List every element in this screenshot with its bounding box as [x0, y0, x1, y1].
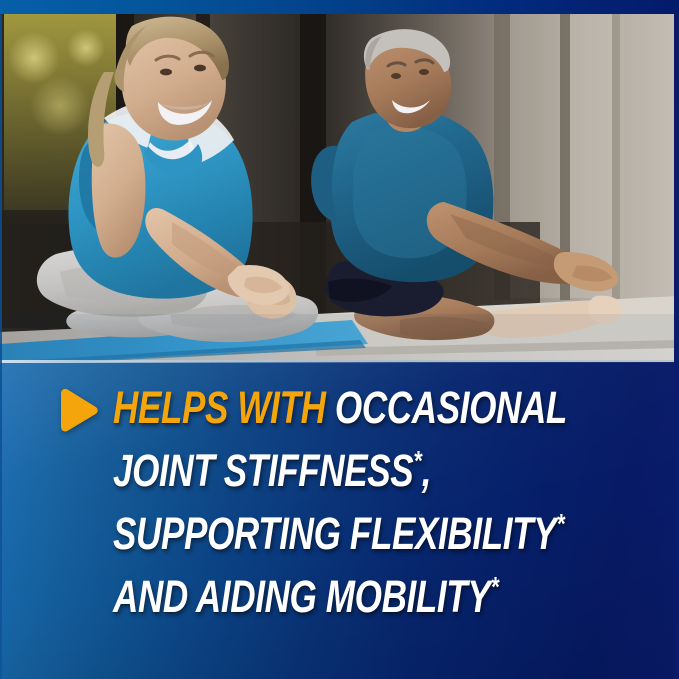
play-triangle-icon — [55, 388, 101, 432]
headline-accent-text: HELPS WITH — [113, 382, 326, 433]
footnote-asterisk-3: * — [556, 508, 564, 539]
headline-white-text-2: JOINT STIFFNESS — [113, 445, 413, 496]
product-benefit-banner: HELPS WITH OCCASIONAL JOINT STIFFNESS*, … — [0, 0, 679, 679]
headline-block: HELPS WITH OCCASIONAL JOINT STIFFNESS*, … — [0, 362, 679, 679]
headline-line-1: HELPS WITH OCCASIONAL — [113, 382, 567, 434]
headline-line-4: AND AIDING MOBILITY* — [113, 571, 499, 623]
right-border-edge — [674, 0, 679, 679]
headline-line-3: SUPPORTING FLEXIBILITY* — [113, 508, 565, 560]
footnote-asterisk-4: * — [490, 571, 498, 602]
headline-space — [326, 382, 335, 433]
headline-comma-2: , — [422, 445, 431, 496]
play-triangle-glyph — [55, 388, 101, 432]
footnote-asterisk-2: * — [413, 445, 421, 476]
photo-illustration — [0, 14, 679, 366]
headline-white-text-3: SUPPORTING FLEXIBILITY — [113, 508, 556, 559]
headline-white-text-4: AND AIDING MOBILITY — [113, 571, 490, 622]
headline-white-text-1: OCCASIONAL — [335, 382, 567, 433]
top-accent-bar — [0, 0, 679, 14]
lifestyle-photo — [0, 14, 679, 366]
headline-line-2: JOINT STIFFNESS*, — [113, 445, 431, 497]
left-border-edge — [0, 0, 2, 679]
